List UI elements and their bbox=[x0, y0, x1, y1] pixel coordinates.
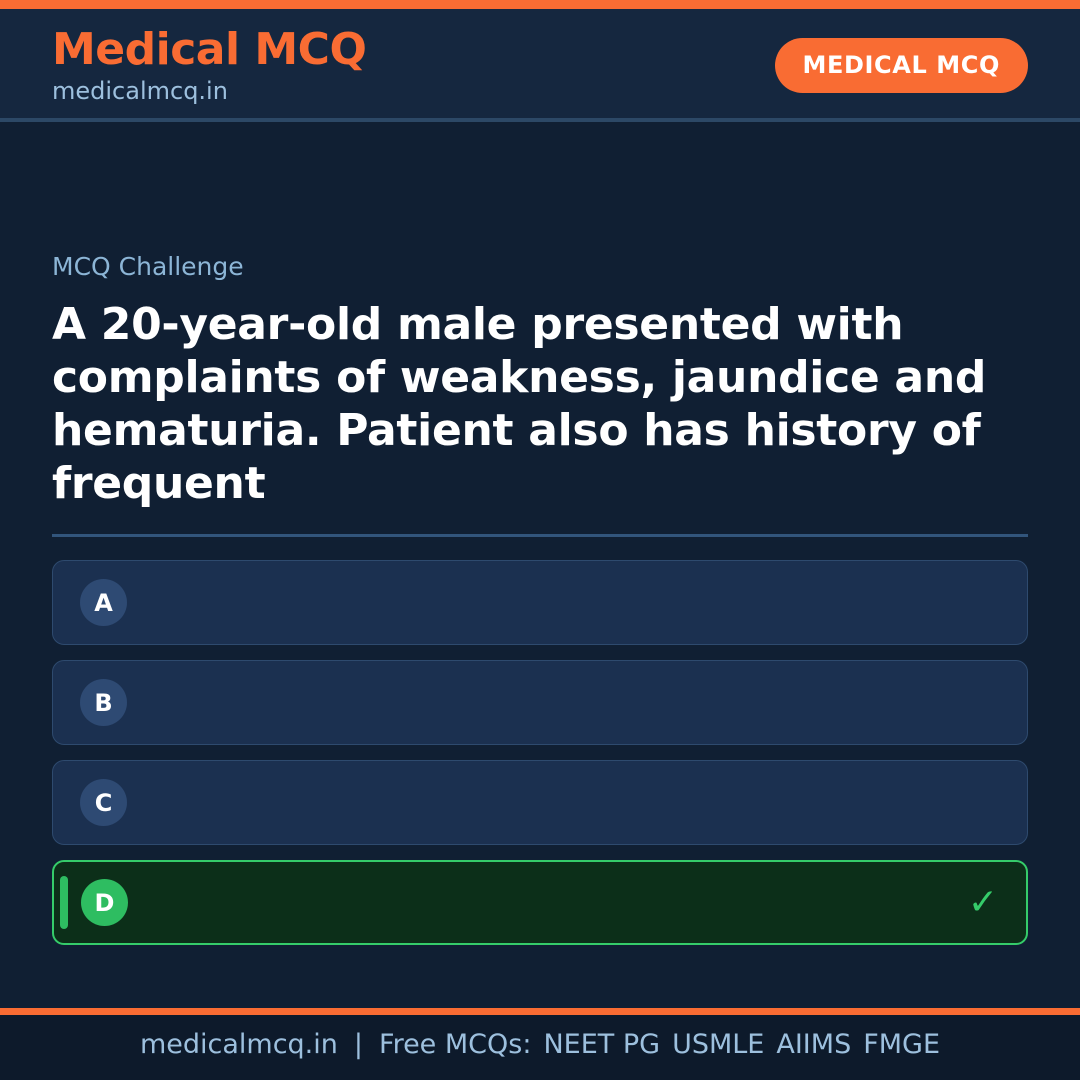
option-letter-badge-d: D bbox=[81, 879, 128, 926]
option-row-d[interactable]: D ✓ bbox=[52, 860, 1028, 945]
footer-separator: | bbox=[354, 1029, 363, 1060]
footer-accent-rule bbox=[0, 1008, 1080, 1015]
brand-website: medicalmcq.in bbox=[52, 79, 366, 103]
option-row-b[interactable]: B bbox=[52, 660, 1028, 745]
brand-badge-pill: MEDICAL MCQ bbox=[775, 38, 1028, 93]
correct-check-icon: ✓ bbox=[968, 885, 998, 921]
option-row-a[interactable]: A bbox=[52, 560, 1028, 645]
option-letter-badge-b: B bbox=[80, 679, 127, 726]
header-bar: Medical MCQ medicalmcq.in MEDICAL MCQ bbox=[0, 9, 1080, 122]
footer-site: medicalmcq.in bbox=[140, 1029, 338, 1060]
main-content: MCQ Challenge A 20-year-old male present… bbox=[0, 122, 1080, 1008]
footer-bar: medicalmcq.in|Free MCQs:NEET PGUSMLEAIIM… bbox=[0, 1008, 1080, 1080]
footer-tag-usmle: USMLE bbox=[672, 1029, 764, 1060]
footer-tag-neet-pg: NEET PG bbox=[543, 1029, 660, 1060]
correct-accent-bar bbox=[60, 876, 68, 929]
question-divider bbox=[52, 534, 1028, 537]
question-text: A 20-year-old male presented with compla… bbox=[52, 298, 1012, 511]
top-accent-strip bbox=[0, 0, 1080, 9]
footer-label: Free MCQs: bbox=[379, 1029, 531, 1060]
brand-title: Medical MCQ bbox=[52, 28, 366, 72]
footer-text: medicalmcq.in|Free MCQs:NEET PGUSMLEAIIM… bbox=[140, 1029, 940, 1060]
option-row-c[interactable]: C bbox=[52, 760, 1028, 845]
option-letter-badge-c: C bbox=[80, 779, 127, 826]
options-list: A B C D ✓ bbox=[52, 560, 1028, 945]
footer-tag-aiims: AIIMS bbox=[776, 1029, 851, 1060]
section-kicker: MCQ Challenge bbox=[52, 253, 1028, 281]
footer-tag-fmge: FMGE bbox=[863, 1029, 940, 1060]
mcq-card: Medical MCQ medicalmcq.in MEDICAL MCQ MC… bbox=[0, 0, 1080, 1080]
brand-block: Medical MCQ medicalmcq.in bbox=[52, 28, 366, 103]
option-letter-badge-a: A bbox=[80, 579, 127, 626]
